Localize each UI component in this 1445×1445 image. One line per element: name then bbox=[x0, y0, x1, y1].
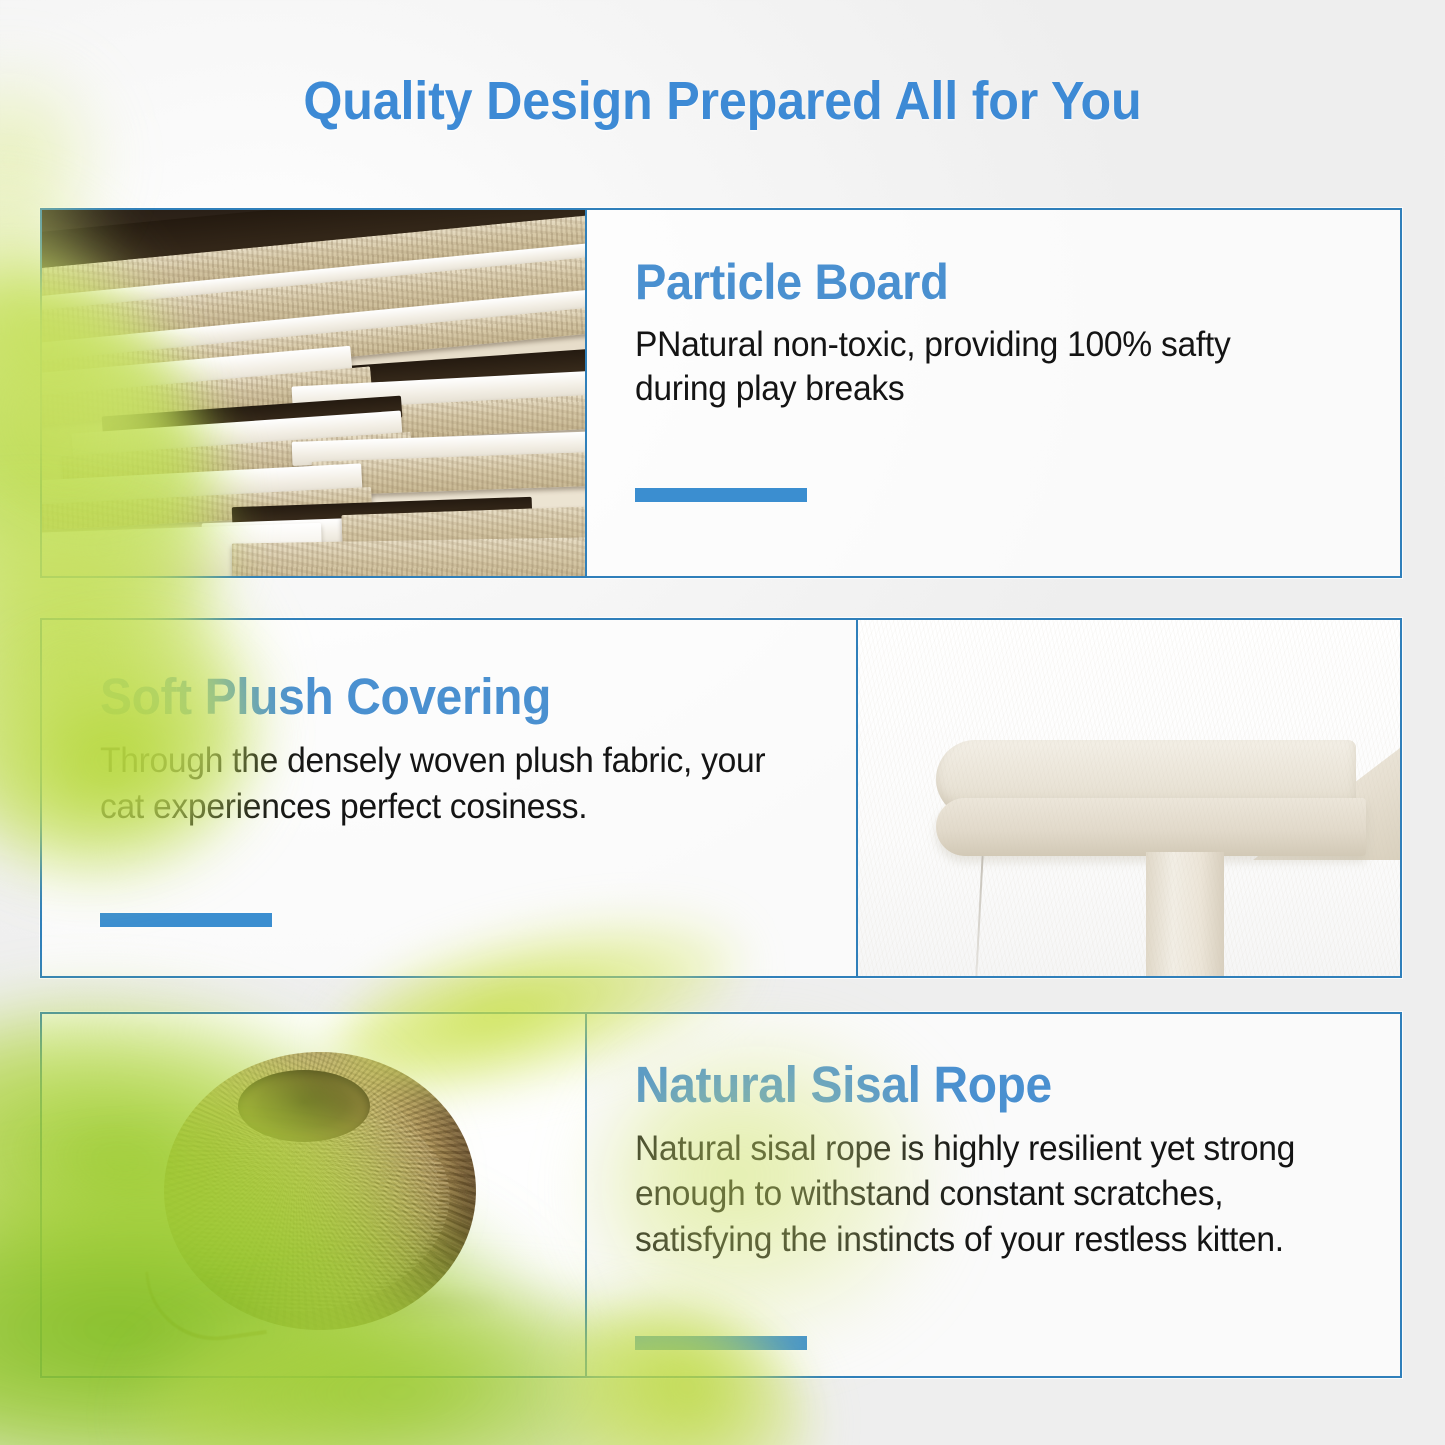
sisal-rope-text-cell: Natural Sisal Rope Natural sisal rope is… bbox=[587, 1014, 1400, 1376]
feature-card-particle-board: Particle Board PNatural non-toxic, provi… bbox=[40, 208, 1402, 578]
feature-card-soft-plush-covering: Soft Plush Covering Through the densely … bbox=[40, 618, 1402, 978]
rope-ball-core bbox=[238, 1070, 370, 1142]
particle-board-heading: Particle Board bbox=[635, 256, 1317, 309]
particle-board-accent-bar bbox=[635, 488, 807, 502]
soft-plush-heading: Soft Plush Covering bbox=[100, 670, 773, 724]
soft-plush-accent-bar bbox=[100, 913, 272, 927]
plush-fabric-texture bbox=[858, 620, 1400, 976]
sisal-rope-photo bbox=[42, 1014, 585, 1376]
soft-plush-image-cell bbox=[856, 620, 1400, 976]
soft-plush-description: Through the densely woven plush fabric, … bbox=[100, 738, 787, 831]
rope-loose-strand bbox=[145, 1257, 267, 1350]
particle-board-photo bbox=[42, 210, 585, 576]
particle-board-text-cell: Particle Board PNatural non-toxic, provi… bbox=[587, 210, 1400, 576]
page-title: Quality Design Prepared All for You bbox=[51, 70, 1395, 132]
sisal-rope-image-cell bbox=[42, 1014, 587, 1376]
plush-platform-photo bbox=[858, 620, 1400, 976]
soft-plush-text-cell: Soft Plush Covering Through the densely … bbox=[42, 620, 856, 976]
sisal-rope-accent-bar bbox=[635, 1336, 807, 1350]
particle-board-image-cell bbox=[42, 210, 587, 576]
feature-card-natural-sisal-rope: Natural Sisal Rope Natural sisal rope is… bbox=[40, 1012, 1402, 1378]
sisal-rope-heading: Natural Sisal Rope bbox=[635, 1058, 1317, 1112]
sisal-rope-description: Natural sisal rope is highly resilient y… bbox=[635, 1126, 1331, 1263]
particle-board-description: PNatural non-toxic, providing 100% safty… bbox=[635, 323, 1331, 412]
